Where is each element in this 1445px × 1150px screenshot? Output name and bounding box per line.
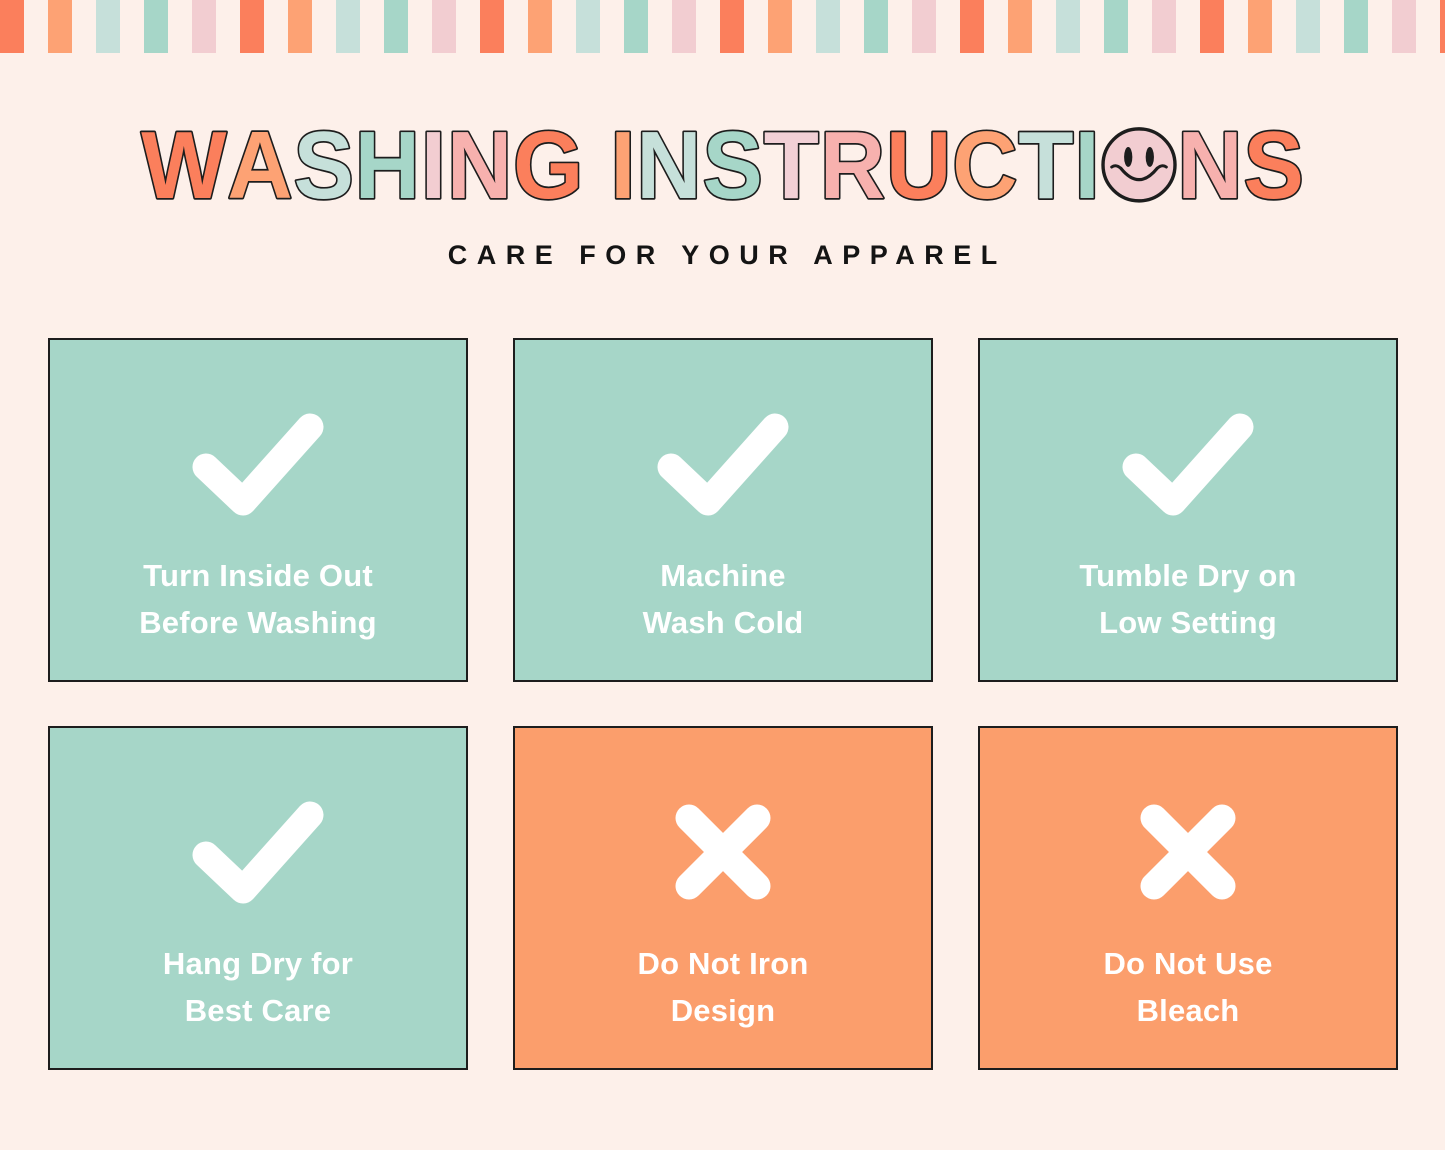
card-label: Do Not IronDesign (515, 940, 931, 1034)
stripe-bar (384, 0, 408, 53)
stripe-bar (1440, 0, 1445, 53)
stripe-gap (1128, 0, 1152, 53)
stripe-gap (552, 0, 576, 53)
card-label-line1: Do Not Iron (638, 946, 809, 981)
check-icon (657, 412, 789, 516)
card-icon-wrap (1118, 408, 1258, 520)
stripe-gap (1416, 0, 1440, 53)
card-icon-wrap (653, 408, 793, 520)
stripe-gap (24, 0, 48, 53)
stripe-bar (672, 0, 696, 53)
card-label: MachineWash Cold (515, 552, 931, 646)
card-label-line2: Design (527, 987, 919, 1034)
stripe-bar (960, 0, 984, 53)
title-letter: S (702, 118, 762, 218)
stripe-bar (576, 0, 600, 53)
stripe-bar (1392, 0, 1416, 53)
card-label: Tumble Dry onLow Setting (980, 552, 1396, 646)
card-label-line2: Low Setting (992, 599, 1384, 646)
title-letter: I (420, 118, 445, 218)
poster-canvas: WASHINGINSTRUCTINS CARE FOR YOUR APPAREL… (0, 0, 1445, 1150)
stripe-bar (1344, 0, 1368, 53)
card-label-line2: Bleach (992, 987, 1384, 1034)
instruction-card-grid: Turn Inside OutBefore WashingMachineWash… (48, 338, 1398, 1070)
title-letters: WASHINGINSTRUCTINS (0, 118, 1445, 218)
card-label-line1: Do Not Use (1103, 946, 1272, 981)
stripe-gap (1224, 0, 1248, 53)
card-label-line2: Wash Cold (527, 599, 919, 646)
stripe-gap (168, 0, 192, 53)
stripe-gap (408, 0, 432, 53)
stripe-bar (1152, 0, 1176, 53)
title-letter: S (1243, 118, 1303, 218)
title-letter: N (1177, 118, 1242, 218)
instruction-card-machine-wash-cold: MachineWash Cold (513, 338, 933, 682)
stripe-gap (120, 0, 144, 53)
stripe-gap (696, 0, 720, 53)
stripe-bar (864, 0, 888, 53)
check-icon (192, 800, 324, 904)
title-letter: U (886, 118, 951, 218)
stripe-gap (216, 0, 240, 53)
smiley-eye (1124, 147, 1132, 167)
stripe-bar (336, 0, 360, 53)
stripe-gap (840, 0, 864, 53)
card-icon-wrap (653, 796, 793, 908)
stripe-bar (912, 0, 936, 53)
stripe-bar (1008, 0, 1032, 53)
stripe-bar (0, 0, 24, 53)
card-label-line1: Hang Dry for (163, 946, 353, 981)
card-label-line2: Before Washing (62, 599, 454, 646)
title-letter: C (952, 118, 1017, 218)
stripe-gap (888, 0, 912, 53)
title-letter: H (354, 118, 419, 218)
stripe-gap (1320, 0, 1344, 53)
card-icon-wrap (188, 408, 328, 520)
stripe-bar (48, 0, 72, 53)
title-letter: N (636, 118, 701, 218)
smiley-face-icon (1103, 129, 1175, 201)
stripe-bar (768, 0, 792, 53)
title-letter: N (447, 118, 512, 218)
card-icon-wrap (1118, 796, 1258, 908)
title-letter: G (513, 118, 583, 218)
stripe-gap (792, 0, 816, 53)
stripe-gap (360, 0, 384, 53)
title-letter: I (610, 118, 635, 218)
stripe-bar (192, 0, 216, 53)
stripe-bar (96, 0, 120, 53)
stripe-bar (1104, 0, 1128, 53)
top-stripe-band (0, 0, 1445, 53)
instruction-card-do-not-bleach: Do Not UseBleach (978, 726, 1398, 1070)
instruction-card-turn-inside-out: Turn Inside OutBefore Washing (48, 338, 468, 682)
stripe-gap (1272, 0, 1296, 53)
smiley-eye (1145, 147, 1153, 167)
stripe-bar (240, 0, 264, 53)
cross-icon (671, 800, 775, 904)
card-label: Hang Dry forBest Care (50, 940, 466, 1034)
stripe-gap (600, 0, 624, 53)
stripe-gap (936, 0, 960, 53)
stripe-bar (720, 0, 744, 53)
stripe-bar (432, 0, 456, 53)
stripe-gap (648, 0, 672, 53)
card-label-line1: Machine (660, 558, 785, 593)
stripe-bar (1200, 0, 1224, 53)
stripe-gap (1368, 0, 1392, 53)
card-label-line1: Turn Inside Out (143, 558, 373, 593)
stripe-bar (816, 0, 840, 53)
stripe-bar (288, 0, 312, 53)
instruction-card-hang-dry: Hang Dry forBest Care (48, 726, 468, 1070)
card-label-line1: Tumble Dry on (1079, 558, 1296, 593)
cross-icon (1136, 800, 1240, 904)
stripe-bar (1296, 0, 1320, 53)
stripe-gap (312, 0, 336, 53)
title-letter: W (141, 118, 227, 218)
page-subtitle: CARE FOR YOUR APPAREL (0, 240, 1445, 271)
title-letter: R (819, 118, 884, 218)
stripe-gap (1176, 0, 1200, 53)
stripe-gap (1080, 0, 1104, 53)
stripe-gap (1032, 0, 1056, 53)
title-svg: WASHINGINSTRUCTINS (53, 118, 1393, 218)
stripe-gap (984, 0, 1008, 53)
stripe-gap (72, 0, 96, 53)
stripe-bar (1056, 0, 1080, 53)
card-label-line2: Best Care (62, 987, 454, 1034)
stripe-gap (504, 0, 528, 53)
stripe-gap (456, 0, 480, 53)
instruction-card-tumble-dry-low: Tumble Dry onLow Setting (978, 338, 1398, 682)
title-letter: T (763, 118, 818, 218)
title-letter: S (293, 118, 353, 218)
stripe-gap (744, 0, 768, 53)
card-icon-wrap (188, 796, 328, 908)
stripe-gap (264, 0, 288, 53)
title-letter: T (1018, 118, 1073, 218)
stripe-bar (624, 0, 648, 53)
card-label: Turn Inside OutBefore Washing (50, 552, 466, 646)
title-letter: A (227, 118, 292, 218)
stripe-bar (528, 0, 552, 53)
check-icon (192, 412, 324, 516)
stripe-bar (480, 0, 504, 53)
page-title: WASHINGINSTRUCTINS (0, 118, 1445, 218)
card-label: Do Not UseBleach (980, 940, 1396, 1034)
instruction-card-do-not-iron: Do Not IronDesign (513, 726, 933, 1070)
title-letter: I (1074, 118, 1099, 218)
stripe-bar (144, 0, 168, 53)
stripe-bar (1248, 0, 1272, 53)
check-icon (1122, 412, 1254, 516)
